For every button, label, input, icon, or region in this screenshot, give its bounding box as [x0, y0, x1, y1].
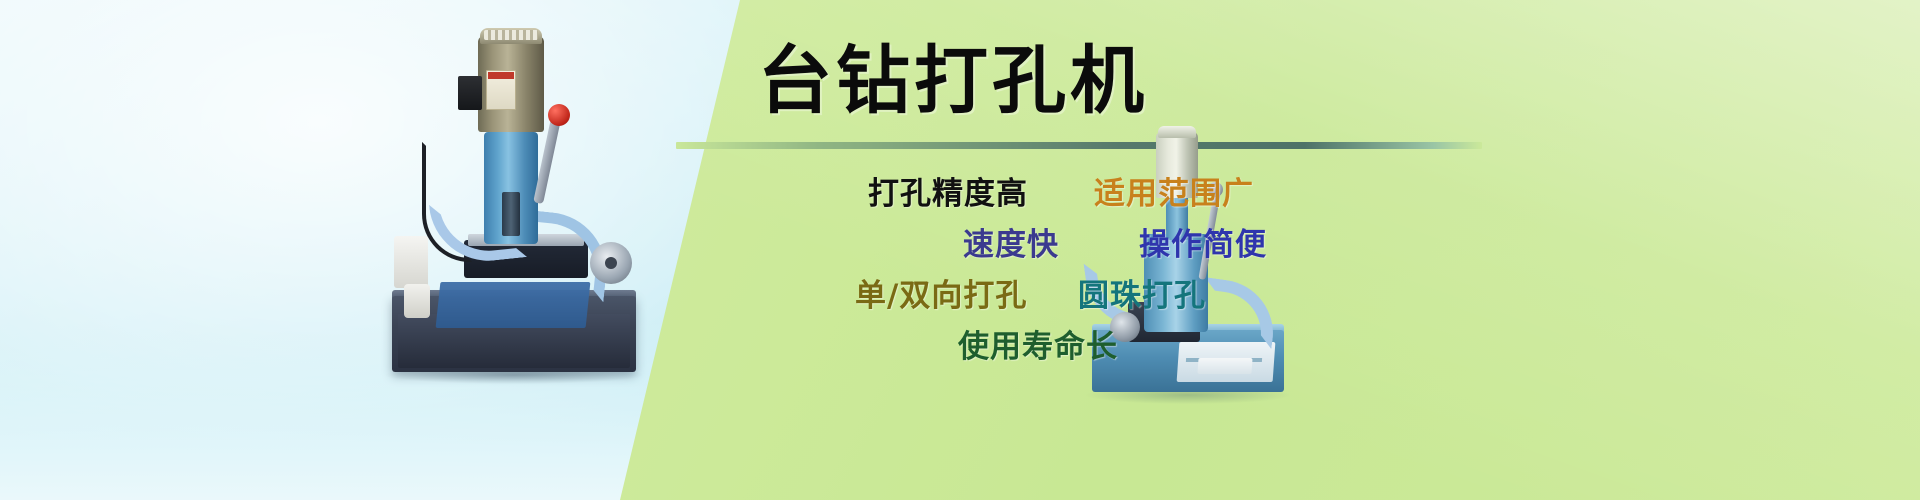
feature-fast-speed: 速度快	[963, 219, 1059, 264]
feature-easy-operation: 操作简便	[1139, 219, 1267, 264]
feature-list: 打孔精度高 适用范围广 速度快 操作简便 单/双向打孔 圆珠打孔 使用寿命长	[0, 0, 1920, 500]
feature-wide-application: 适用范围广	[1094, 168, 1254, 213]
feature-drilling-precision: 打孔精度高	[868, 168, 1028, 213]
feature-bead-drilling: 圆珠打孔	[1078, 270, 1206, 315]
feature-long-service-life: 使用寿命长	[958, 321, 1118, 366]
feature-single-double-drill: 单/双向打孔	[855, 270, 1027, 315]
product-banner: 台钻打孔机 打孔精度高 适用范围广 速度快 操作简便 单/双向打孔 圆珠打孔 使…	[0, 0, 1920, 500]
